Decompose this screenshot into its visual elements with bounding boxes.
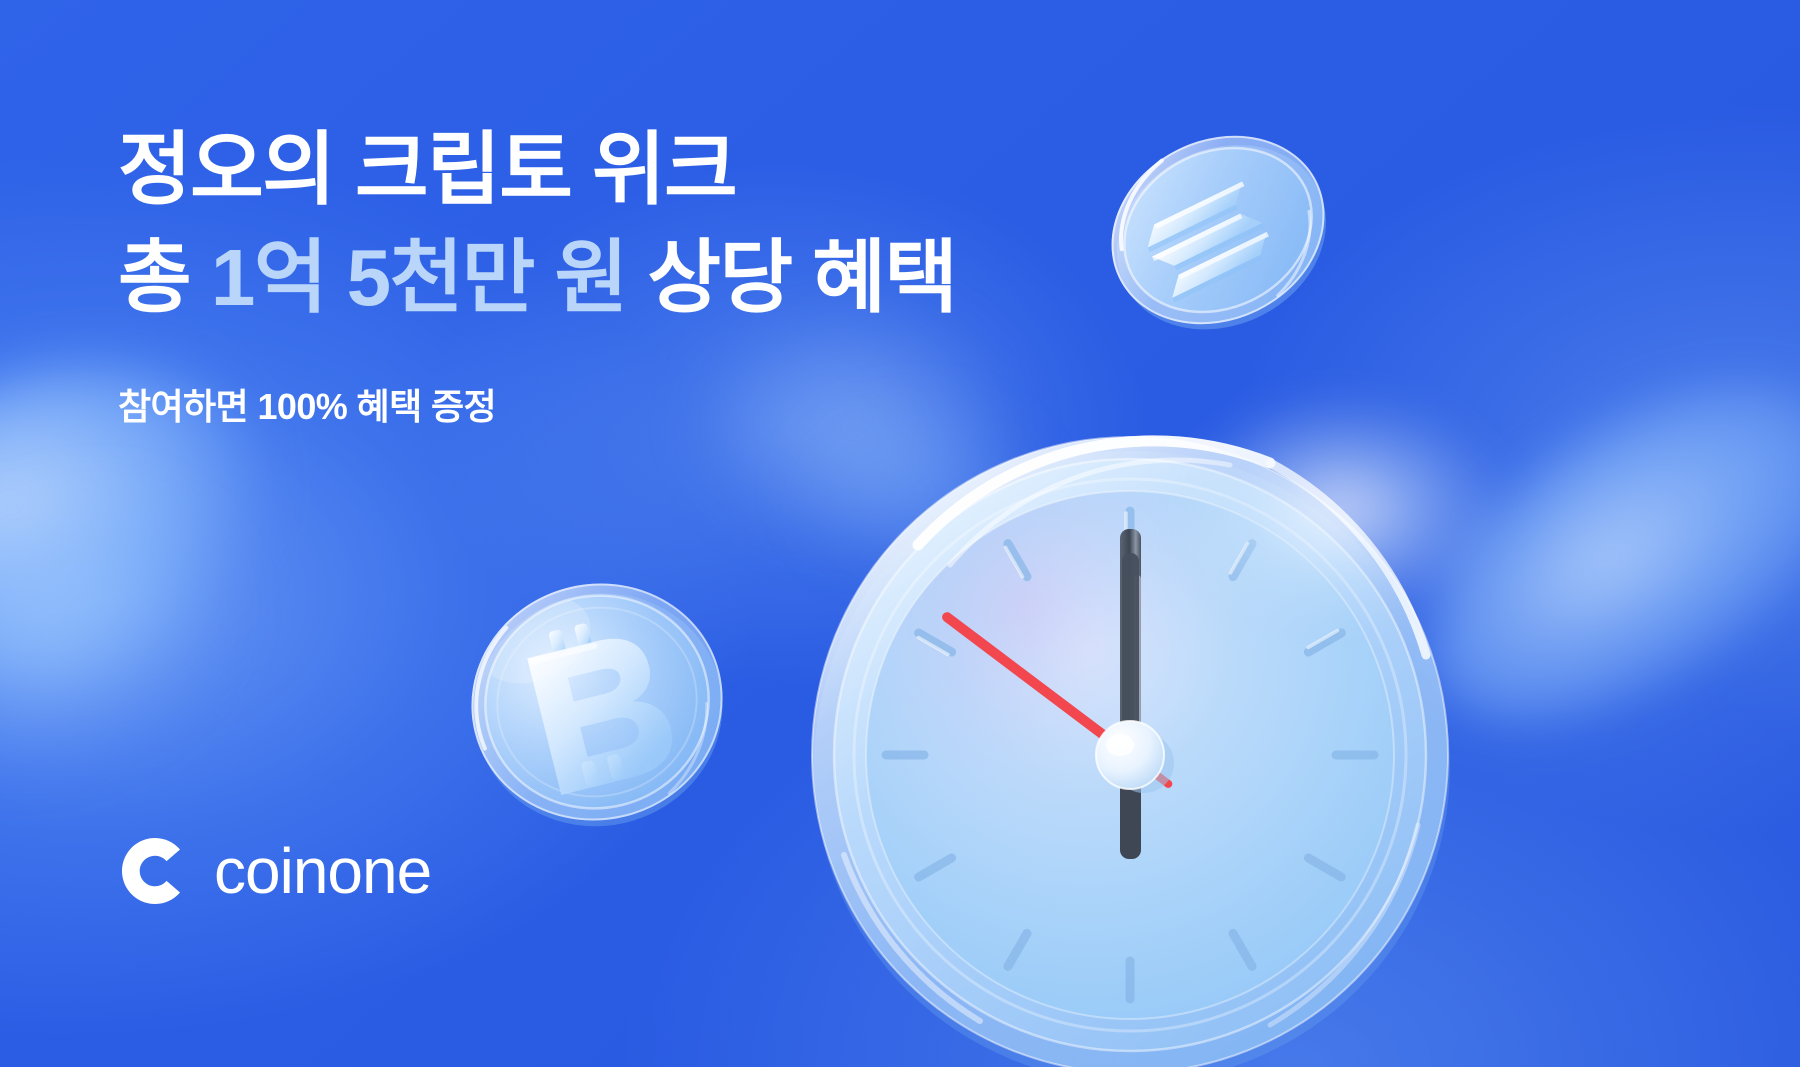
coinone-wordmark: coinone [214,839,431,903]
headline-line-2-suffix: 상당 혜택 [627,233,957,322]
bitcoin-coin-icon [455,570,740,830]
solana-coin-icon [1093,105,1343,355]
headline-line-2-prefix: 총 [118,233,211,322]
analog-clock-icon [800,425,1460,1067]
subtitle: 참여하면 100% 혜택 증정 [118,378,957,430]
headline-line-2: 총 1억 5천만 원 상당 혜택 [118,226,957,330]
coinone-logo: coinone [118,834,431,908]
coinone-c-mark-icon [118,834,192,908]
headline-line-1: 정오의 크립토 위크 [118,118,957,222]
headline-amount-highlight: 1억 5천만 원 [211,233,627,322]
headline-block: 정오의 크립토 위크 총 1억 5천만 원 상당 혜택 참여하면 100% 혜택… [118,118,957,430]
promo-banner: 정오의 크립토 위크 총 1억 5천만 원 상당 혜택 참여하면 100% 혜택… [0,0,1800,1067]
